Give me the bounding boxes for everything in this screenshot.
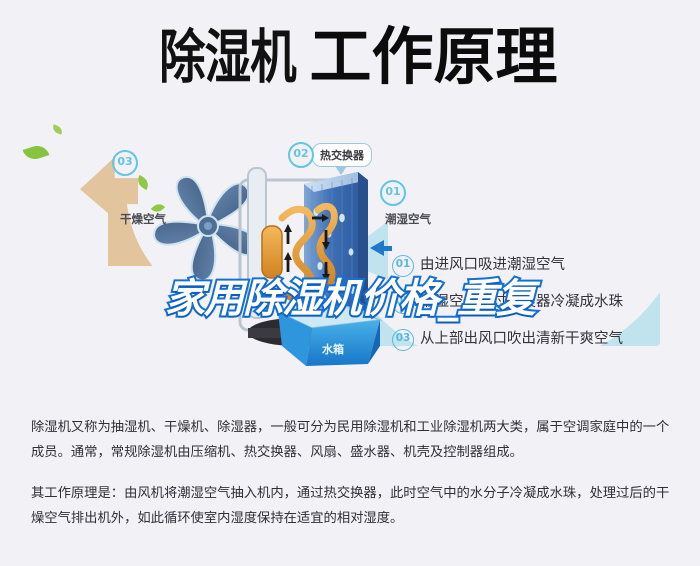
page-root: 除湿机工作原理 bbox=[0, 0, 700, 566]
watermark-text: 家用除湿机价格_重复 bbox=[0, 266, 700, 324]
page-title-part-one: 除湿机 bbox=[160, 28, 297, 86]
label-dry-air: 干燥空气 bbox=[120, 211, 166, 227]
badge-heat-exchanger-02: 02 bbox=[288, 142, 314, 168]
step-text: 从上部出风口吹出清新干爽空气 bbox=[420, 327, 623, 348]
page-title-part-two: 工作原理 bbox=[310, 26, 558, 88]
label-water-tank: 水箱 bbox=[322, 341, 344, 357]
label-moist-air: 潮湿空气 bbox=[385, 211, 431, 227]
body-paragraph-one: 除湿机又称为抽湿机、干燥机、除湿器，一般可分为民用除湿机和工业除湿机两大类，属于… bbox=[31, 415, 673, 465]
leaf-icon bbox=[51, 124, 64, 135]
leaf-icon bbox=[23, 143, 50, 163]
badge-moist-air-01: 01 bbox=[380, 180, 406, 206]
page-title: 除湿机工作原理 bbox=[0, 26, 700, 88]
body-paragraph-two: 其工作原理是：由风机将潮湿空气抽入机内，通过热交换器，此时空气中的水分子冷凝成水… bbox=[31, 481, 673, 531]
badge-dry-air-03: 03 bbox=[112, 150, 138, 176]
body-copy: 除湿机又称为抽湿机、干燥机、除湿器，一般可分为民用除湿机和工业除湿机两大类，属于… bbox=[31, 415, 673, 547]
label-heat-exchanger-callout: 热交换器 bbox=[312, 143, 372, 167]
list-item: 03 从上部出风口吹出清新干爽空气 bbox=[392, 326, 692, 363]
step-number-badge: 03 bbox=[392, 329, 414, 351]
